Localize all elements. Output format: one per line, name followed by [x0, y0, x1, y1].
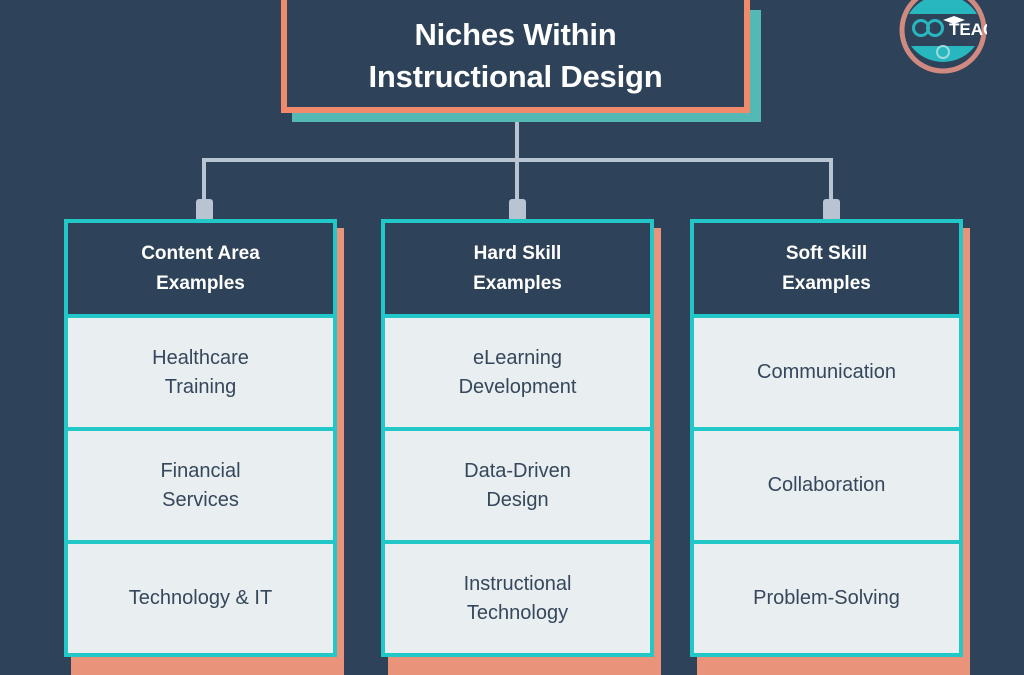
cell-line-1: Data-Driven: [464, 457, 571, 486]
column-header-hard-skill: Hard Skill Examples: [381, 219, 654, 318]
cell-line-1: Problem-Solving: [753, 584, 900, 613]
cell-line-2: Services: [160, 486, 240, 515]
cell-text: Financial Services: [160, 457, 240, 515]
cell-line-1: Instructional: [464, 570, 572, 599]
cell-line-1: eLearning: [459, 344, 577, 373]
column-header-line-1: Soft Skill: [782, 239, 871, 268]
column-header-content-area: Content Area Examples: [64, 219, 337, 318]
column-inner: Soft Skill Examples Communication Collab…: [690, 219, 963, 657]
go-teach-logo: TEACH: [899, 0, 987, 74]
cell-line-1: Communication: [757, 358, 896, 387]
column-header-text: Soft Skill Examples: [782, 239, 871, 298]
cell-line-1: Collaboration: [768, 471, 886, 500]
cell-line-1: Healthcare: [152, 344, 249, 373]
cell-text: Collaboration: [768, 471, 886, 500]
column-header-line-2: Examples: [141, 269, 260, 298]
column-content-area: Content Area Examples Healthcare Trainin…: [64, 219, 337, 657]
column-header-line-1: Content Area: [141, 239, 260, 268]
infographic-canvas: Niches Within Instructional Design TEACH: [0, 0, 1024, 675]
cell-text: Communication: [757, 358, 896, 387]
list-item: Problem-Solving: [690, 544, 963, 657]
column-header-text: Hard Skill Examples: [473, 239, 562, 298]
cell-line-2: Training: [152, 373, 249, 402]
connector-stem: [515, 122, 519, 162]
cell-line-2: Development: [459, 373, 577, 402]
page-title: Niches Within Instructional Design: [369, 6, 663, 98]
cell-line-1: Technology & IT: [129, 584, 272, 613]
cell-text: Technology & IT: [129, 584, 272, 613]
svg-text:TEACH: TEACH: [949, 20, 987, 39]
list-item: Healthcare Training: [64, 318, 337, 431]
column-soft-skill: Soft Skill Examples Communication Collab…: [690, 219, 963, 657]
list-item: Technology & IT: [64, 544, 337, 657]
connector-node-1: [196, 199, 213, 221]
list-item: Financial Services: [64, 431, 337, 544]
cell-text: Data-Driven Design: [464, 457, 571, 515]
connector-node-3: [823, 199, 840, 221]
cell-line-1: Financial: [160, 457, 240, 486]
list-item: Collaboration: [690, 431, 963, 544]
cell-line-2: Design: [464, 486, 571, 515]
title-line-2: Instructional Design: [369, 56, 663, 98]
list-item: Communication: [690, 318, 963, 431]
cell-text: Instructional Technology: [464, 570, 572, 628]
cell-text: eLearning Development: [459, 344, 577, 402]
list-item: Data-Driven Design: [381, 431, 654, 544]
connector-node-2: [509, 199, 526, 221]
column-hard-skill: Hard Skill Examples eLearning Developmen…: [381, 219, 654, 657]
column-header-line-2: Examples: [473, 269, 562, 298]
column-inner: Content Area Examples Healthcare Trainin…: [64, 219, 337, 657]
cell-text: Healthcare Training: [152, 344, 249, 402]
cell-text: Problem-Solving: [753, 584, 900, 613]
column-inner: Hard Skill Examples eLearning Developmen…: [381, 219, 654, 657]
column-header-line-1: Hard Skill: [473, 239, 562, 268]
column-header-soft-skill: Soft Skill Examples: [690, 219, 963, 318]
go-teach-logo-icon: TEACH: [899, 0, 987, 74]
list-item: eLearning Development: [381, 318, 654, 431]
title-box: Niches Within Instructional Design: [281, 0, 750, 113]
column-header-line-2: Examples: [782, 269, 871, 298]
column-header-text: Content Area Examples: [141, 239, 260, 298]
list-item: Instructional Technology: [381, 544, 654, 657]
cell-line-2: Technology: [464, 599, 572, 628]
title-line-1: Niches Within: [369, 14, 663, 56]
